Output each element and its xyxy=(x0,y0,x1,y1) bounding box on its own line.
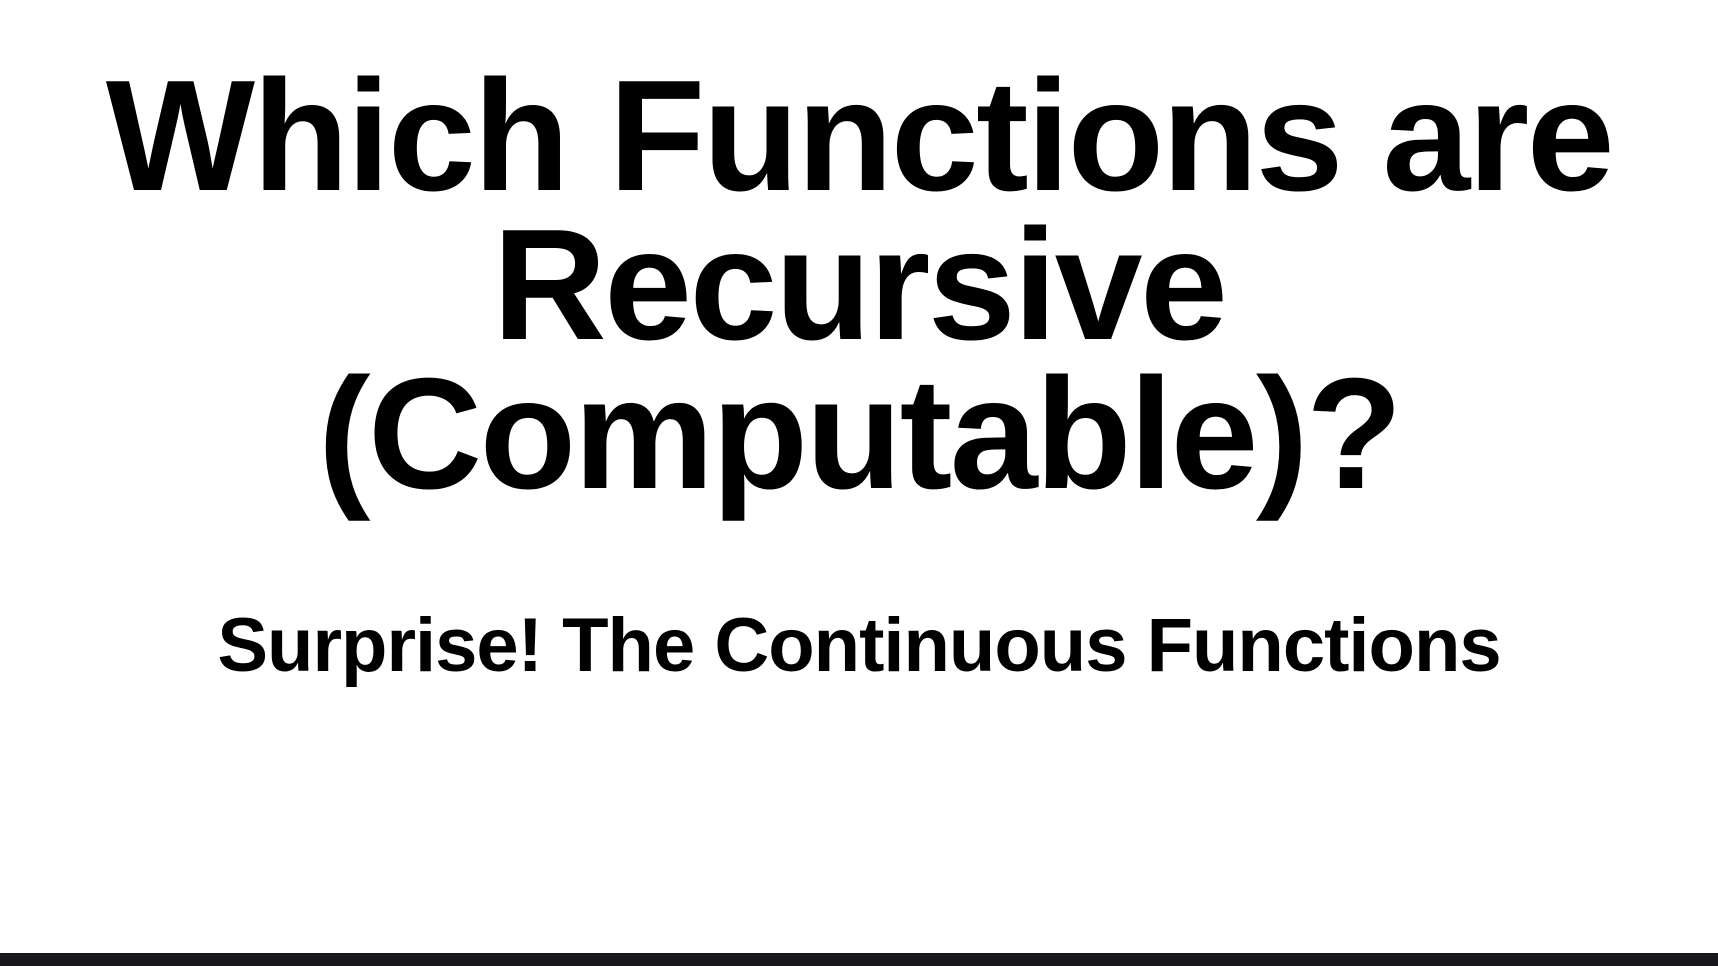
slide-title: Which Functions are Recursive (Computabl… xyxy=(60,62,1658,509)
title-line-3: (Computable)? xyxy=(60,360,1658,509)
slide-content-area: Which Functions are Recursive (Computabl… xyxy=(0,0,1718,953)
title-line-1: Which Functions are xyxy=(60,62,1658,211)
presentation-slide: Which Functions are Recursive (Computabl… xyxy=(0,0,1718,966)
subtitle-line-1: Surprise! The Continuous Functions xyxy=(60,600,1658,692)
slide-bottom-bar xyxy=(0,953,1718,966)
slide-subtitle: Surprise! The Continuous Functions xyxy=(60,600,1658,692)
title-line-2: Recursive xyxy=(60,211,1658,360)
